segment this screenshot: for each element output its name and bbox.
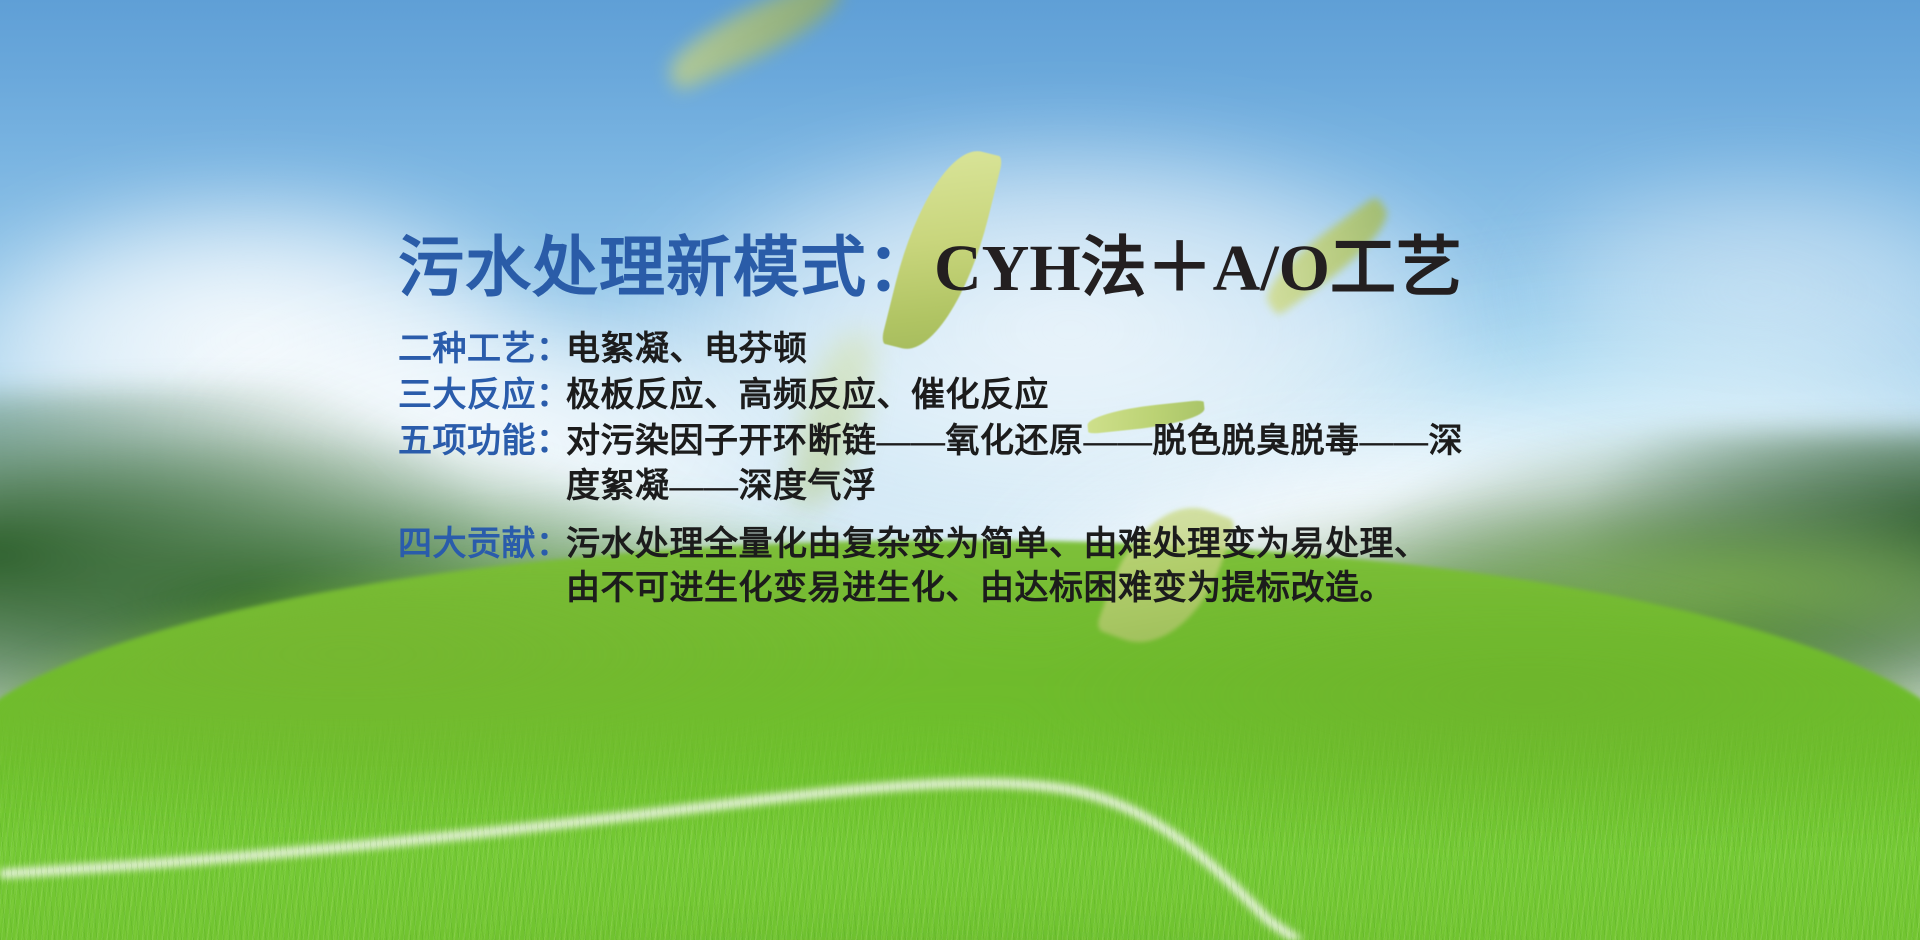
bullet-label: 四大贡献： <box>398 523 566 567</box>
bullet-line: 由不可进生化变易进生化、由达标困难变为提标改造。 <box>566 567 1528 611</box>
slide-content: 污水处理新模式：CYH法＋A/O工艺 二种工艺： 电絮凝、电芬顿 三大反应： 极… <box>398 236 1528 613</box>
bullet-label: 五项功能： <box>398 420 566 464</box>
slide-title-chinese: 污水处理新模式： <box>398 232 934 305</box>
bullet-list: 二种工艺： 电絮凝、电芬顿 三大反应： 极板反应、高频反应、催化反应 五项功能：… <box>398 328 1528 611</box>
bullet-line: 电絮凝、电芬顿 <box>566 328 1528 372</box>
bullet-value: 电絮凝、电芬顿 <box>566 328 1528 372</box>
bullet-item-five-functions: 五项功能： 对污染因子开环断链——氧化还原——脱色脱臭脱毒——深 度絮凝——深度… <box>398 420 1528 508</box>
bullet-line: 对污染因子开环断链——氧化还原——脱色脱臭脱毒——深 <box>566 420 1528 464</box>
bullet-item-three-reactions: 三大反应： 极板反应、高频反应、催化反应 <box>398 374 1528 418</box>
bullet-value: 极板反应、高频反应、催化反应 <box>566 374 1528 418</box>
bullet-label: 三大反应： <box>398 374 566 418</box>
bullet-item-four-contributions: 四大贡献： 污水处理全量化由复杂变为简单、由难处理变为易处理、 由不可进生化变易… <box>398 523 1528 611</box>
bullet-line: 度絮凝——深度气浮 <box>566 465 1528 509</box>
bullet-line: 污水处理全量化由复杂变为简单、由难处理变为易处理、 <box>566 523 1528 567</box>
bullet-value: 污水处理全量化由复杂变为简单、由难处理变为易处理、 由不可进生化变易进生化、由达… <box>566 523 1528 611</box>
slide-canvas: 污水处理新模式：CYH法＋A/O工艺 二种工艺： 电絮凝、电芬顿 三大反应： 极… <box>0 0 1920 940</box>
bullet-value: 对污染因子开环断链——氧化还原——脱色脱臭脱毒——深 度絮凝——深度气浮 <box>566 420 1528 508</box>
bullet-label: 二种工艺： <box>398 328 566 372</box>
bullet-line: 极板反应、高频反应、催化反应 <box>566 374 1528 418</box>
bullet-item-two-processes: 二种工艺： 电絮凝、电芬顿 <box>398 328 1528 372</box>
grass-texture <box>0 710 1920 940</box>
slide-title: 污水处理新模式：CYH法＋A/O工艺 <box>398 236 1528 302</box>
slide-title-latin: CYH法＋A/O工艺 <box>934 232 1462 305</box>
